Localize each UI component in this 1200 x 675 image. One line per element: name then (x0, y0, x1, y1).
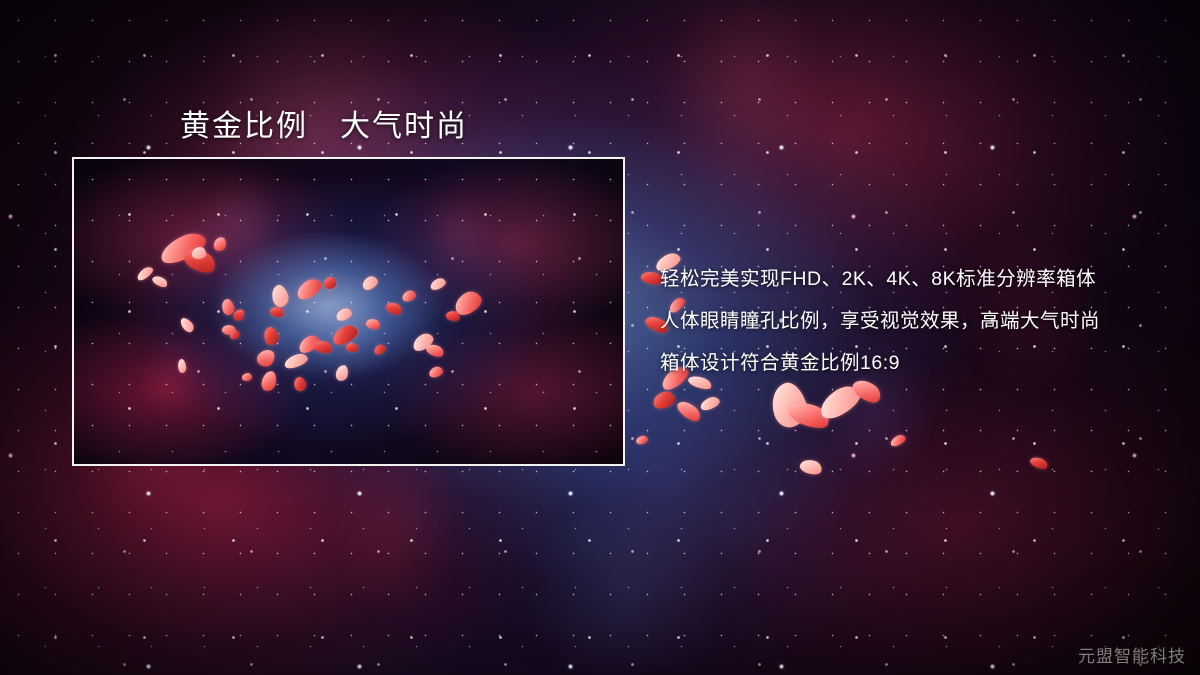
panel-nebula-filaments (74, 159, 623, 464)
description-line-3: 箱体设计符合黄金比例16:9 (660, 342, 1190, 384)
description-text-block: 轻松完美实现FHD、2K、4K、8K标准分辨率箱体 人体眼睛瞳孔比例，享受视觉效… (660, 258, 1190, 384)
watermark: 元盟智能科技 (1078, 642, 1186, 667)
petal-shape (889, 433, 907, 448)
presentation-slide: 黄金比例 大气时尚 轻松完美实现FHD、2K、4K、8K标准分辨率箱体 人体眼睛… (0, 0, 1200, 675)
petal-shape (699, 395, 722, 412)
description-line-1: 轻松完美实现FHD、2K、4K、8K标准分辨率箱体 (660, 258, 1190, 300)
petal-shape (785, 397, 832, 433)
petal-shape (675, 397, 704, 424)
media-panel-content (74, 159, 623, 464)
petal-shape (1029, 455, 1050, 472)
petal-shape (815, 381, 865, 424)
petal-shape (651, 389, 676, 410)
petal-shape (635, 435, 648, 445)
petal-shape (766, 379, 812, 431)
page-title: 黄金比例 大气时尚 (180, 101, 468, 145)
description-line-2: 人体眼睛瞳孔比例，享受视觉效果，高端大气时尚 (660, 300, 1190, 342)
media-panel[interactable] (72, 157, 625, 466)
petal-shape (798, 457, 823, 477)
